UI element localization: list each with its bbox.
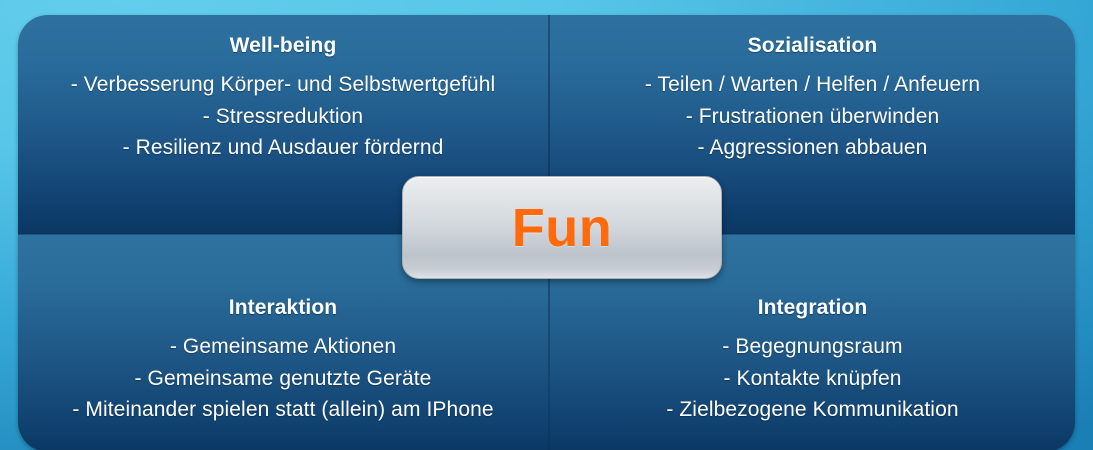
quadrant-item: - Frustrationen überwinden <box>564 101 1061 133</box>
quadrant-item: - Gemeinsame Aktionen <box>32 331 534 363</box>
quadrant-integration: Integration - Begegnungsraum - Kontakte … <box>550 297 1075 426</box>
center-hub-label: Fun <box>512 201 612 255</box>
quadrant-item: - Miteinander spielen statt (allein) am … <box>32 394 534 426</box>
quadrant-title-sozialisation: Sozialisation <box>564 35 1061 56</box>
quadrant-title-integration: Integration <box>564 297 1061 318</box>
quadrant-title-well-being: Well-being <box>32 35 534 56</box>
quadrant-item: - Begegnungsraum <box>564 331 1061 363</box>
quadrant-item: - Verbesserung Körper- und Selbstwertgef… <box>32 69 534 101</box>
quadrant-sozialisation: Sozialisation - Teilen / Warten / Helfen… <box>550 35 1075 164</box>
quadrant-well-being: Well-being - Verbesserung Körper- und Se… <box>18 35 548 164</box>
quadrant-title-interaktion: Interaktion <box>32 297 534 318</box>
diagram-canvas: Well-being - Verbesserung Körper- und Se… <box>0 0 1093 450</box>
quadrant-item: - Stressreduktion <box>32 101 534 133</box>
quadrant-item: - Teilen / Warten / Helfen / Anfeuern <box>564 69 1061 101</box>
quadrant-item: - Kontakte knüpfen <box>564 363 1061 395</box>
quadrant-item: - Zielbezogene Kommunikation <box>564 394 1061 426</box>
quadrant-item: - Aggressionen abbauen <box>564 132 1061 164</box>
quadrant-item: - Resilienz und Ausdauer fördernd <box>32 132 534 164</box>
center-hub-fun: Fun <box>402 176 722 279</box>
quadrant-interaktion: Interaktion - Gemeinsame Aktionen - Geme… <box>18 297 548 426</box>
quadrant-item: - Gemeinsame genutzte Geräte <box>32 363 534 395</box>
